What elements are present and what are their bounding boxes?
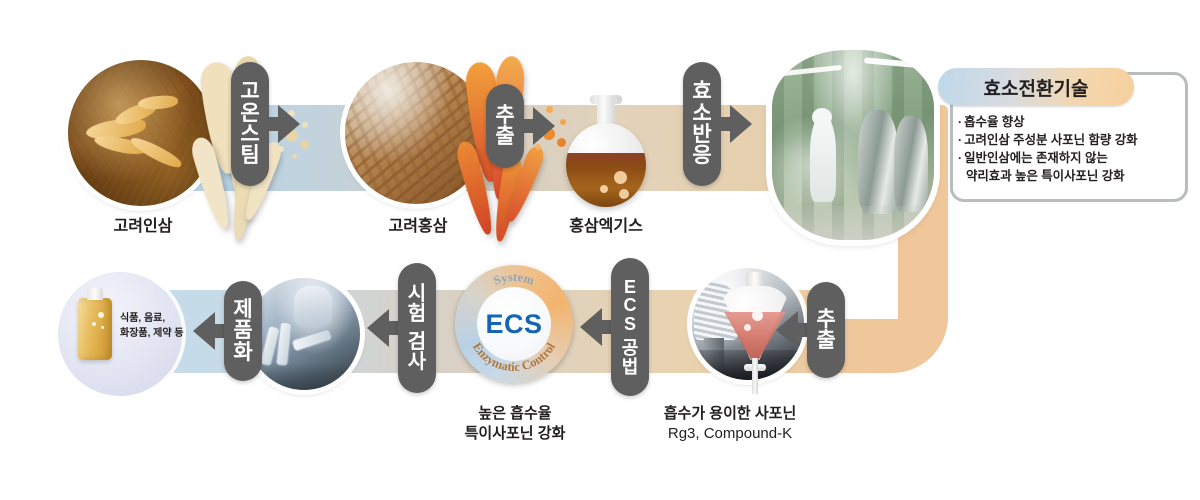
arrow-left-icon (367, 309, 389, 347)
bullet-text: 흡수율 향상 (964, 115, 1024, 129)
step-arrow-steam[interactable]: 고 온 스 팀 (231, 62, 300, 186)
round-bottom-flask-icon (560, 95, 652, 215)
callout-bullet-list: ·흡수율 향상 ·고려인삼 주성분 사포닌 함량 강화 ·일반인삼에는 존재하지… (958, 114, 1182, 186)
arrow-stub (601, 320, 611, 334)
arrow-right-icon (730, 105, 752, 143)
ecs-logo: System Enzymatic Control ECS (455, 265, 573, 383)
diagram-canvas: 고 온 스 팀 추 출 효 소 반 응 고려인삼 (0, 0, 1200, 500)
caption-ginseng: 고려인삼 (98, 212, 188, 236)
node-lab-inspection-photo (248, 278, 360, 390)
step-label-steam: 고 온 스 팀 (231, 62, 269, 186)
step-arrow-enzyme-reaction[interactable]: 효 소 반 응 (683, 62, 752, 186)
step-arrow-extraction2[interactable]: 추 출 (776, 282, 845, 378)
callout-bullet-item: ·일반인삼에는 존재하지 않는 약리효과 높은 특이사포닌 강화 (958, 150, 1182, 186)
caption-ecs: 높은 흡수율 특이사포닌 강화 (439, 404, 591, 443)
svg-text:System: System (492, 270, 537, 288)
caption-ecs-line-1: 높은 흡수율 (439, 404, 591, 424)
bullet-text: 일반인삼에는 존재하지 않는 (964, 151, 1108, 165)
callout-bullet-item: ·고려인삼 주성분 사포닌 함량 강화 (958, 132, 1182, 150)
step-label-testing: 시 험 검 사 (398, 263, 436, 393)
step-arrow-productization[interactable]: 제 품 화 (193, 281, 262, 381)
arrow-left-icon (776, 311, 798, 349)
bullet-text-continuation: 약리효과 높은 특이사포닌 강화 (958, 168, 1182, 186)
arrow-right-icon (278, 105, 300, 143)
callout-title: 효소전환기술 (938, 68, 1134, 106)
step-label-ecs-method: E C S 공 법 (611, 258, 649, 396)
caption-saponin-line-1: 흡수가 용이한 사포닌 (636, 404, 824, 424)
ecs-logo-text: ECS (485, 309, 542, 340)
callout-enzyme-conversion-technology: 효소전환기술 ·흡수율 향상 ·고려인삼 주성분 사포닌 함량 강화 ·일반인삼… (950, 72, 1188, 202)
bullet-marker: · (958, 151, 962, 165)
step-label-productization: 제 품 화 (224, 281, 262, 381)
arrow-left-icon (193, 312, 215, 350)
step-arrow-extraction[interactable]: 추 출 (486, 84, 555, 168)
product-text-line-2: 화장품, 제약 등 (120, 327, 200, 342)
step-label-extraction2: 추 출 (807, 282, 845, 378)
caption-ecs-line-2: 특이사포닌 강화 (439, 424, 591, 444)
arrow-stub (797, 323, 807, 337)
ecs-logo-inner: ECS (477, 287, 551, 361)
bullet-marker: · (958, 133, 962, 147)
callout-bullet-item: ·흡수율 향상 (958, 114, 1182, 132)
step-label-enzyme-reaction: 효 소 반 응 (683, 62, 721, 186)
arrow-stub (388, 321, 398, 335)
arrow-left-icon (580, 308, 602, 346)
step-arrow-ecs-method[interactable]: E C S 공 법 (580, 258, 649, 396)
arrow-right-icon (533, 107, 555, 145)
arrow-stub (214, 324, 224, 338)
node-ginseng-root-photo (68, 60, 214, 206)
caption-extract: 홍삼엑기스 (551, 212, 661, 236)
product-text-line-1: 식품, 음료, (120, 312, 200, 327)
step-arrow-testing[interactable]: 시 험 검 사 (367, 263, 436, 393)
product-bottle-icon (78, 288, 112, 360)
step-label-extraction: 추 출 (486, 84, 524, 168)
bullet-marker: · (958, 115, 962, 129)
caption-saponin: 흡수가 용이한 사포닌 Rg3, Compound-K (636, 404, 824, 443)
caption-saponin-line-2: Rg3, Compound-K (636, 424, 824, 444)
node-enzyme-reactor-photo (772, 50, 934, 240)
product-inline-text: 식품, 음료, 화장품, 제약 등 (120, 312, 200, 341)
caption-red-ginseng: 고려홍삼 (373, 212, 463, 236)
bullet-text: 고려인삼 주성분 사포닌 함량 강화 (964, 133, 1137, 147)
